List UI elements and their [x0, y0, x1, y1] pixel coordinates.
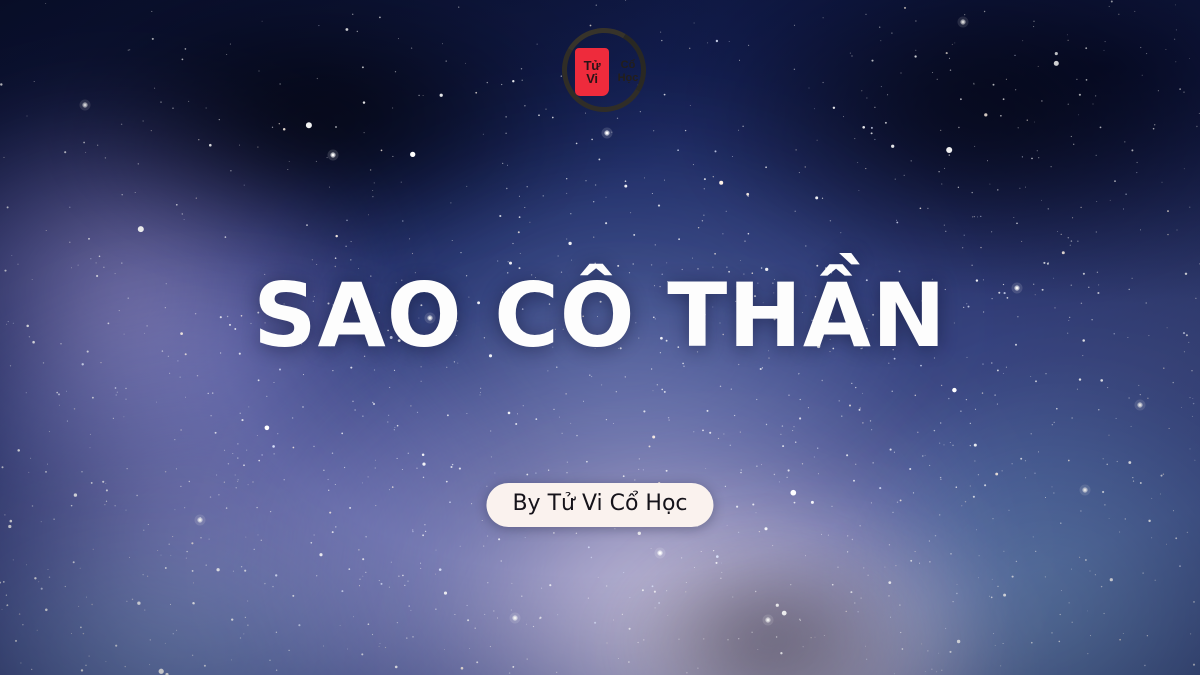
- red-seal-stamp-icon: Tử Vi: [575, 48, 609, 96]
- logo-stamp-line2: Vi: [586, 72, 597, 85]
- banner-stage: Tử Vi Cổ Học SAO CÔ THẦN By Tử Vi Cổ Học: [0, 0, 1200, 675]
- author-byline-badge: By Tử Vi Cổ Học: [486, 483, 713, 527]
- brand-logo[interactable]: Tử Vi Cổ Học: [558, 24, 650, 116]
- logo-side-text: Cổ Học: [612, 50, 644, 94]
- page-title: SAO CÔ THẦN: [0, 272, 1200, 360]
- logo-side-line1: Cổ: [621, 59, 636, 72]
- logo-side-line2: Học: [618, 72, 639, 85]
